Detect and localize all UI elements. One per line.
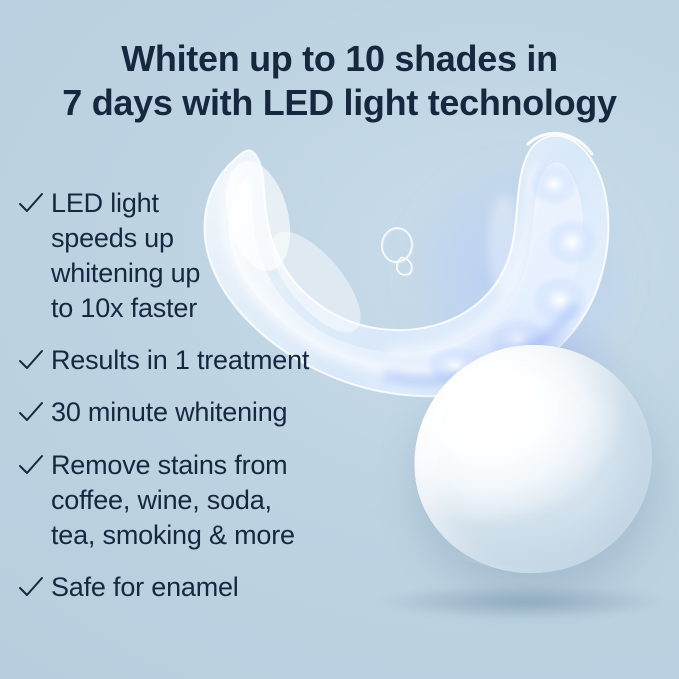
feature-line: 30 minute whitening (51, 395, 287, 430)
feature-line: Safe for enamel (51, 570, 239, 605)
checkmark-icon (16, 398, 46, 428)
feature-line: speeds up (51, 221, 200, 256)
feature-line: Remove stains from (51, 448, 295, 483)
checkmark-icon (16, 451, 46, 481)
feature-text: 30 minute whitening (51, 395, 287, 430)
feature-text: Safe for enamel (51, 570, 239, 605)
headline-line-1: Whiten up to 10 shades in (0, 37, 679, 81)
feature-line: tea, smoking & more (51, 518, 295, 553)
feature-text: Remove stains from coffee, wine, soda, t… (51, 448, 295, 553)
page-title: Whiten up to 10 shades in 7 days with LE… (0, 37, 679, 125)
feature-line: coffee, wine, soda, (51, 483, 295, 518)
checkmark-icon (16, 573, 46, 603)
headline-line-2: 7 days with LED light technology (0, 81, 679, 125)
feature-list: LED light speeds up whitening up to 10x … (16, 186, 361, 605)
list-item: Results in 1 treatment (16, 343, 361, 378)
puck-rim-shade (426, 464, 644, 577)
feature-line: to 10x faster (51, 291, 200, 326)
promo-graphic: Whiten up to 10 shades in 7 days with LE… (0, 0, 679, 679)
device-drop-shadow (378, 585, 668, 619)
feature-line: Results in 1 treatment (51, 343, 309, 378)
brand-q-logo-icon (371, 221, 428, 280)
feature-text: LED light speeds up whitening up to 10x … (51, 186, 200, 326)
list-item: 30 minute whitening (16, 395, 361, 430)
list-item: LED light speeds up whitening up to 10x … (16, 186, 361, 326)
list-item: Remove stains from coffee, wine, soda, t… (16, 448, 361, 553)
list-item: Safe for enamel (16, 570, 361, 605)
feature-text: Results in 1 treatment (51, 343, 309, 378)
feature-line: whitening up (51, 256, 200, 291)
checkmark-icon (16, 189, 46, 219)
checkmark-icon (16, 346, 46, 376)
feature-line: LED light (51, 186, 200, 221)
